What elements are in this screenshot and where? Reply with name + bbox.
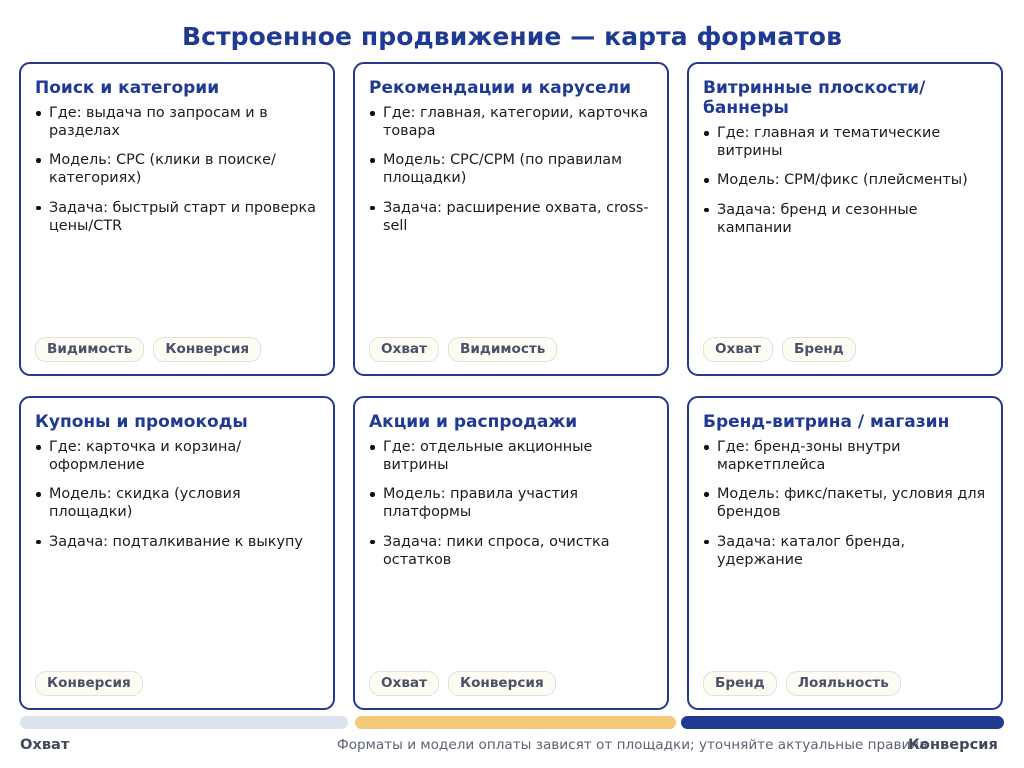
- slide-root: Встроенное продвижение — карта форматов …: [0, 0, 1024, 768]
- card-bullet: Где: отдельные акционные витрины: [369, 438, 653, 474]
- card-bullet-list: Где: карточка и корзина/оформление Модел…: [35, 438, 319, 671]
- funnel-segment-reach: [20, 716, 348, 729]
- card-bullet: Где: выдача по запросам и в разделах: [35, 104, 319, 140]
- card-bullet: Задача: бренд и сезонные кампании: [703, 201, 987, 237]
- card-title: Рекомендации и карусели: [369, 78, 653, 98]
- card-bullet: Где: главная и тематические витрины: [703, 124, 987, 160]
- card-bullet: Где: карточка и корзина/оформление: [35, 438, 319, 474]
- page-title: Встроенное продвижение — карта форматов: [0, 22, 1024, 51]
- card-bullet: Модель: CPM/фикс (плейсменты): [703, 171, 987, 189]
- card-bullet: Модель: правила участия платформы: [369, 485, 653, 521]
- card-promotions-and-sales[interactable]: Акции и распродажи Где: отдельные акцион…: [353, 396, 669, 710]
- funnel-progress-track: [20, 716, 1004, 729]
- funnel-segment-consideration: [355, 716, 676, 729]
- card-bullet: Модель: фикс/пакеты, условия для брендов: [703, 485, 987, 521]
- status-badge[interactable]: Конверсия: [448, 671, 556, 696]
- card-bullet: Задача: подталкивание к выкупу: [35, 533, 319, 551]
- footer: Охват Форматы и модели оплаты зависят от…: [0, 706, 1024, 768]
- card-bullet-list: Где: бренд-зоны внутри маркетплейса Моде…: [703, 438, 987, 671]
- card-bullet: Задача: каталог бренда, удержание: [703, 533, 987, 569]
- card-bullet-list: Где: выдача по запросам и в разделах Мод…: [35, 104, 319, 337]
- status-badge[interactable]: Лояльность: [786, 671, 901, 696]
- status-badge[interactable]: Охват: [369, 337, 439, 362]
- card-brand-storefront-shop[interactable]: Бренд-витрина / магазин Где: бренд-зоны …: [687, 396, 1003, 710]
- card-bullet-list: Где: отдельные акционные витрины Модель:…: [369, 438, 653, 671]
- status-badge[interactable]: Бренд: [782, 337, 856, 362]
- status-badge[interactable]: Видимость: [448, 337, 557, 362]
- card-storefront-planes-banners[interactable]: Витринные плоскости/баннеры Где: главная…: [687, 62, 1003, 376]
- card-bullet: Задача: быстрый старт и проверка цены/CT…: [35, 199, 319, 235]
- card-bullet-list: Где: главная и тематические витрины Моде…: [703, 124, 987, 337]
- card-badge-group: Охват Бренд: [703, 337, 987, 364]
- status-badge[interactable]: Охват: [703, 337, 773, 362]
- card-bullet: Где: главная, категории, карточка товара: [369, 104, 653, 140]
- card-title: Акции и распродажи: [369, 412, 653, 432]
- card-coupons-and-promocodes[interactable]: Купоны и промокоды Где: карточка и корзи…: [19, 396, 335, 710]
- card-recommendations-and-carousels[interactable]: Рекомендации и карусели Где: главная, ка…: [353, 62, 669, 376]
- card-bullet-list: Где: главная, категории, карточка товара…: [369, 104, 653, 337]
- card-bullet: Задача: пики спроса, очистка остатков: [369, 533, 653, 569]
- card-badge-group: Охват Конверсия: [369, 671, 653, 698]
- card-search-and-categories[interactable]: Поиск и категории Где: выдача по запроса…: [19, 62, 335, 376]
- card-badge-group: Бренд Лояльность: [703, 671, 987, 698]
- card-bullet: Задача: расширение охвата, cross-sell: [369, 199, 653, 235]
- card-title: Поиск и категории: [35, 78, 319, 98]
- status-badge[interactable]: Видимость: [35, 337, 144, 362]
- status-badge[interactable]: Охват: [369, 671, 439, 696]
- status-badge[interactable]: Бренд: [703, 671, 777, 696]
- card-title: Купоны и промокоды: [35, 412, 319, 432]
- card-bullet: Где: бренд-зоны внутри маркетплейса: [703, 438, 987, 474]
- status-badge[interactable]: Конверсия: [35, 671, 143, 696]
- format-card-grid: Поиск и категории Где: выдача по запроса…: [19, 62, 1005, 710]
- footer-note: Форматы и модели оплаты зависят от площа…: [337, 737, 997, 753]
- card-badge-group: Видимость Конверсия: [35, 337, 319, 364]
- status-badge[interactable]: Конверсия: [153, 337, 261, 362]
- card-title: Витринные плоскости/баннеры: [703, 78, 987, 118]
- card-bullet: Модель: CPC/CPM (по правилам площадки): [369, 151, 653, 187]
- card-bullet: Модель: скидка (условия площадки): [35, 485, 319, 521]
- card-badge-group: Конверсия: [35, 671, 319, 698]
- card-bullet: Модель: CPC (клики в поиске/категориях): [35, 151, 319, 187]
- card-badge-group: Охват Видимость: [369, 337, 653, 364]
- funnel-label-left: Охват: [20, 736, 69, 753]
- funnel-segment-conversion: [681, 716, 1004, 729]
- card-title: Бренд-витрина / магазин: [703, 412, 987, 432]
- funnel-label-right: Конверсия: [908, 736, 998, 753]
